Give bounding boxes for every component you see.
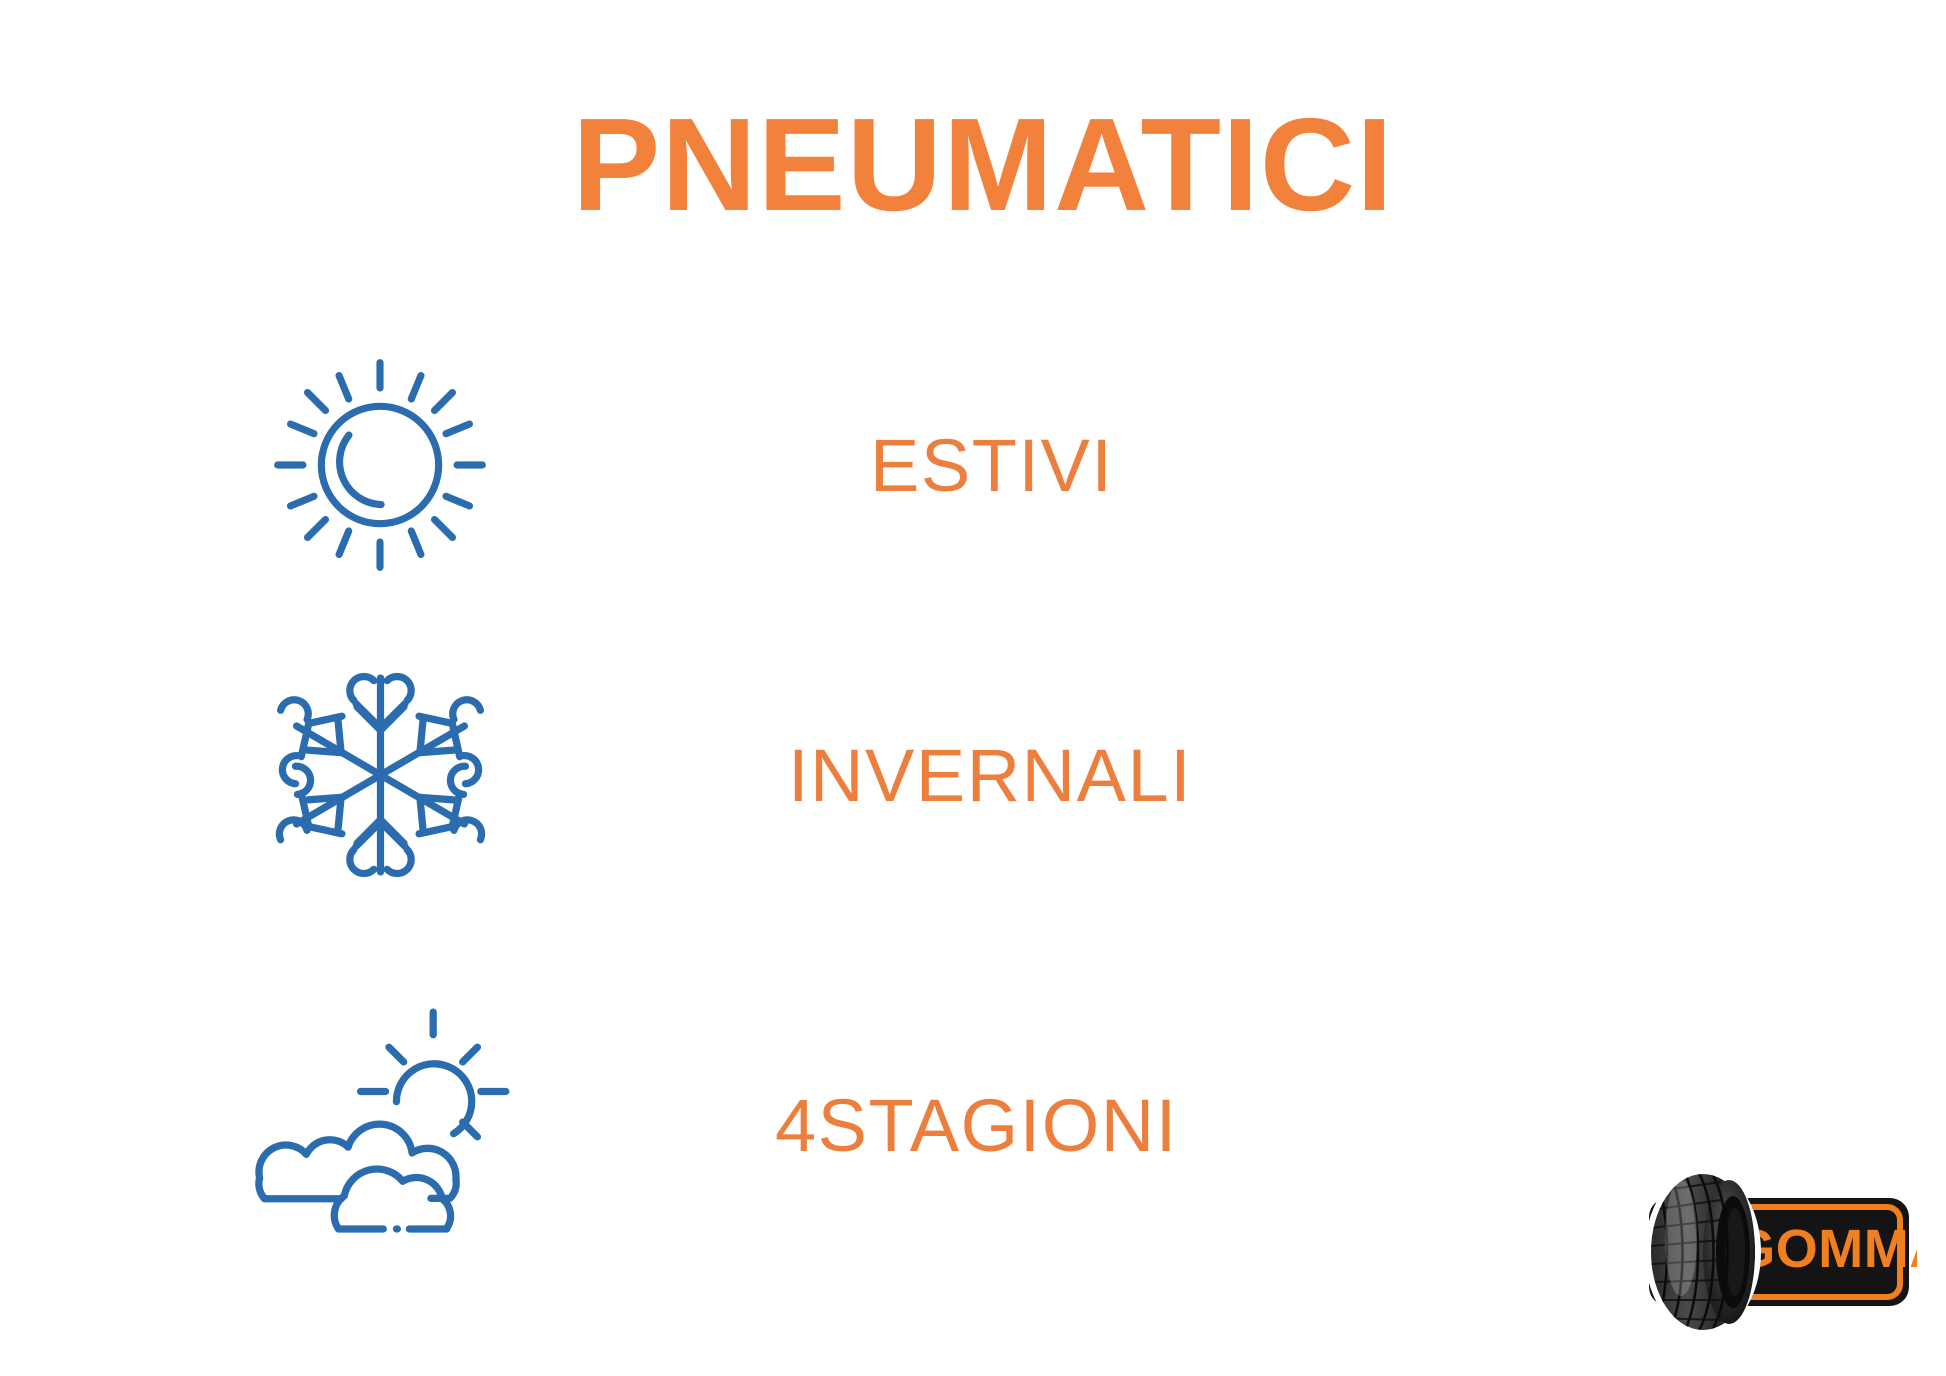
- sun-behind-clouds-icon: [238, 1000, 523, 1250]
- row-label-4stagioni: 4STAGIONI: [775, 1000, 1178, 1250]
- tire-icon: [1645, 1168, 1761, 1336]
- list-item: INVERNALI: [0, 650, 1946, 910]
- sun-icon: [255, 340, 505, 590]
- row-label-invernali: INVERNALI: [788, 650, 1192, 900]
- poster-canvas: PNEUMATICI: [0, 0, 1946, 1376]
- snowflake-icon: [255, 650, 505, 900]
- regomma-logo: REGOMMA: [1625, 1152, 1917, 1352]
- page-title: PNEUMATICI: [0, 96, 1946, 235]
- row-label-estivi: ESTIVI: [870, 340, 1113, 590]
- list-item: ESTIVI: [0, 340, 1946, 600]
- page-title-text: PNEUMATICI: [572, 96, 1394, 235]
